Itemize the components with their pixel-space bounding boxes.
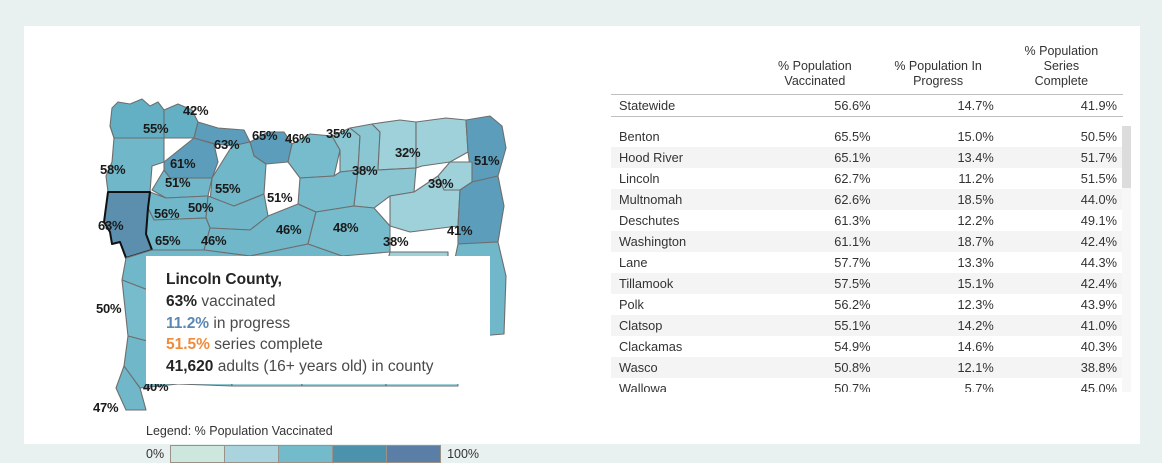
page-root: 42%55%63%65%46%35%32%51%58%61%51%55%51%3… <box>0 0 1162 459</box>
cell-vaccinated: 62.7% <box>753 168 876 189</box>
cell-vaccinated: 57.5% <box>753 273 876 294</box>
county-table-body: Benton65.5%15.0%50.5%Hood River65.1%13.4… <box>611 126 1123 392</box>
table-spacer-row <box>611 117 1123 127</box>
legend-swatch-1[interactable] <box>225 446 279 462</box>
map-label-7: 51% <box>474 153 499 168</box>
cell-county: Benton <box>611 126 753 147</box>
cell-vaccinated: 54.9% <box>753 336 876 357</box>
cell-series-complete: 43.9% <box>1000 294 1123 315</box>
table-row[interactable]: Hood River65.1%13.4%51.7% <box>611 147 1123 168</box>
header-line-2: Progress <box>883 74 994 89</box>
cell-series-complete: 44.0% <box>1000 189 1123 210</box>
cell-in-progress: 11.2% <box>877 168 1000 189</box>
tooltip-population-label: adults (16+ years old) in county <box>218 358 434 375</box>
map-label-11: 55% <box>215 181 240 196</box>
table-row-statewide[interactable]: Statewide 56.6% 14.7% 41.9% <box>611 95 1123 117</box>
county-table-header: % Population Vaccinated % Population In … <box>611 44 1123 126</box>
table-row[interactable]: Benton65.5%15.0%50.5% <box>611 126 1123 147</box>
header-line-2: Vaccinated <box>759 74 870 89</box>
cell-vaccinated: 50.7% <box>753 378 876 392</box>
cell-series-complete: 40.3% <box>1000 336 1123 357</box>
map-label-12: 51% <box>267 190 292 205</box>
map-label-1: 55% <box>143 121 168 136</box>
cell-in-progress: 5.7% <box>877 378 1000 392</box>
legend-scale-row: 0% 100% <box>146 445 479 463</box>
cell-series-complete: 49.1% <box>1000 210 1123 231</box>
cell-county: Tillamook <box>611 273 753 294</box>
header-line-1: % Population Series <box>1006 44 1117 74</box>
cell-county: Multnomah <box>611 189 753 210</box>
tooltip-vaccinated-label: vaccinated <box>201 293 275 310</box>
map-label-22: 38% <box>383 234 408 249</box>
table-row[interactable]: Clackamas54.9%14.6%40.3% <box>611 336 1123 357</box>
tooltip-vaccinated-line: 63% vaccinated <box>166 291 476 313</box>
map-label-26: 47% <box>93 400 118 415</box>
cell-in-progress: 14.2% <box>877 315 1000 336</box>
cell-series-complete: 51.7% <box>1000 147 1123 168</box>
column-header-vaccinated[interactable]: % Population Vaccinated <box>753 44 876 95</box>
cell-series-complete: 38.8% <box>1000 357 1123 378</box>
map-label-21: 48% <box>333 220 358 235</box>
table-row[interactable]: Clatsop55.1%14.2%41.0% <box>611 315 1123 336</box>
table-row[interactable]: Washington61.1%18.7%42.4% <box>611 231 1123 252</box>
cell-in-progress: 14.7% <box>877 95 1000 117</box>
cell-county: Wasco <box>611 357 753 378</box>
dashboard-card: 42%55%63%65%46%35%32%51%58%61%51%55%51%3… <box>24 26 1140 444</box>
cell-in-progress: 15.0% <box>877 126 1000 147</box>
cell-series-complete: 42.4% <box>1000 231 1123 252</box>
cell-in-progress: 13.3% <box>877 252 1000 273</box>
map-label-10: 51% <box>165 175 190 190</box>
cell-county: Statewide <box>611 95 753 117</box>
table-scrollbar-thumb[interactable] <box>1122 126 1131 188</box>
header-line-1: % Population <box>759 59 870 74</box>
cell-series-complete: 41.0% <box>1000 315 1123 336</box>
header-line-1: % Population In <box>883 59 994 74</box>
map-label-9: 61% <box>170 156 195 171</box>
map-tooltip: Lincoln County, 63% vaccinated 11.2% in … <box>146 256 490 384</box>
tooltip-series-complete-line: 51.5% series complete <box>166 334 476 356</box>
cell-vaccinated: 56.2% <box>753 294 876 315</box>
cell-vaccinated: 50.8% <box>753 357 876 378</box>
tooltip-in-progress-line: 11.2% in progress <box>166 313 476 335</box>
cell-in-progress: 18.5% <box>877 189 1000 210</box>
legend-swatch-0[interactable] <box>171 446 225 462</box>
county-table-scroll-region[interactable]: Benton65.5%15.0%50.5%Hood River65.1%13.4… <box>611 126 1131 392</box>
cell-county: Lincoln <box>611 168 753 189</box>
map-label-4: 46% <box>285 131 310 146</box>
legend-swatch-4[interactable] <box>387 446 440 462</box>
table-row[interactable]: Multnomah62.6%18.5%44.0% <box>611 189 1123 210</box>
cell-series-complete: 44.3% <box>1000 252 1123 273</box>
tooltip-population-value: 41,620 <box>166 358 213 375</box>
cell-series-complete: 50.5% <box>1000 126 1123 147</box>
county-table-panel: % Population Vaccinated % Population In … <box>586 26 1140 444</box>
map-label-13: 38% <box>352 163 377 178</box>
cell-vaccinated: 55.1% <box>753 315 876 336</box>
map-label-23: 41% <box>447 223 472 238</box>
cell-vaccinated: 62.6% <box>753 189 876 210</box>
cell-in-progress: 12.1% <box>877 357 1000 378</box>
tooltip-series-complete-label: series complete <box>214 336 323 353</box>
table-row[interactable]: Tillamook57.5%15.1%42.4% <box>611 273 1123 294</box>
legend-swatch-2[interactable] <box>279 446 333 462</box>
table-row[interactable]: Polk56.2%12.3%43.9% <box>611 294 1123 315</box>
map-label-24: 50% <box>96 301 121 316</box>
table-row[interactable]: Wallowa50.7%5.7%45.0% <box>611 378 1123 392</box>
cell-county: Deschutes <box>611 210 753 231</box>
map-label-16: 56% <box>154 206 179 221</box>
map-label-0: 42% <box>183 103 208 118</box>
cell-county: Clackamas <box>611 336 753 357</box>
cell-vaccinated: 65.5% <box>753 126 876 147</box>
table-row[interactable]: Wasco50.8%12.1%38.8% <box>611 357 1123 378</box>
legend-swatch-3[interactable] <box>333 446 387 462</box>
cell-in-progress: 18.7% <box>877 231 1000 252</box>
table-scrollbar-track[interactable] <box>1122 126 1131 392</box>
cell-series-complete: 45.0% <box>1000 378 1123 392</box>
table-row[interactable]: Lincoln62.7%11.2%51.5% <box>611 168 1123 189</box>
map-label-3: 65% <box>252 128 277 143</box>
cell-in-progress: 15.1% <box>877 273 1000 294</box>
map-label-5: 35% <box>326 126 351 141</box>
map-label-2: 63% <box>214 137 239 152</box>
tooltip-in-progress-label: in progress <box>213 315 290 332</box>
map-label-20: 46% <box>276 222 301 237</box>
map-label-19: 46% <box>201 233 226 248</box>
map-legend: Legend: % Population Vaccinated 0% 100% <box>146 424 479 463</box>
cell-in-progress: 12.2% <box>877 210 1000 231</box>
tooltip-population-line: 41,620 adults (16+ years old) in county <box>166 356 476 378</box>
cell-in-progress: 14.6% <box>877 336 1000 357</box>
cell-vaccinated: 57.7% <box>753 252 876 273</box>
map-label-14: 39% <box>428 176 453 191</box>
cell-vaccinated: 61.1% <box>753 231 876 252</box>
cell-series-complete: 42.4% <box>1000 273 1123 294</box>
cell-county: Polk <box>611 294 753 315</box>
column-header-in-progress[interactable]: % Population In Progress <box>877 44 1000 95</box>
cell-county: Wallowa <box>611 378 753 392</box>
cell-series-complete: 51.5% <box>1000 168 1123 189</box>
map-label-15: 63% <box>98 218 123 233</box>
county-table-wrap: % Population Vaccinated % Population In … <box>611 44 1131 392</box>
column-header-series-complete[interactable]: % Population Series Complete <box>1000 44 1123 95</box>
cell-county: Lane <box>611 252 753 273</box>
cell-vaccinated: 61.3% <box>753 210 876 231</box>
column-header-county[interactable] <box>611 44 753 95</box>
legend-color-ramp[interactable] <box>170 445 441 463</box>
map-label-8: 58% <box>100 162 125 177</box>
map-panel[interactable]: 42%55%63%65%46%35%32%51%58%61%51%55%51%3… <box>24 26 584 444</box>
tooltip-vaccinated-value: 63% <box>166 293 197 310</box>
legend-title: Legend: % Population Vaccinated <box>146 424 479 438</box>
county-umatilla[interactable] <box>416 118 468 168</box>
header-line-2: Complete <box>1006 74 1117 89</box>
cell-in-progress: 13.4% <box>877 147 1000 168</box>
map-label-18: 65% <box>155 233 180 248</box>
table-row[interactable]: Lane57.7%13.3%44.3% <box>611 252 1123 273</box>
cell-series-complete: 41.9% <box>1000 95 1123 117</box>
cell-county: Clatsop <box>611 315 753 336</box>
tooltip-series-complete-value: 51.5% <box>166 336 210 353</box>
tooltip-in-progress-value: 11.2% <box>166 315 209 332</box>
table-header-row: % Population Vaccinated % Population In … <box>611 44 1123 95</box>
table-row[interactable]: Deschutes61.3%12.2%49.1% <box>611 210 1123 231</box>
cell-county: Hood River <box>611 147 753 168</box>
cell-in-progress: 12.3% <box>877 294 1000 315</box>
map-label-6: 32% <box>395 145 420 160</box>
cell-vaccinated: 56.6% <box>753 95 876 117</box>
map-label-17: 50% <box>188 200 213 215</box>
cell-vaccinated: 65.1% <box>753 147 876 168</box>
tooltip-title: Lincoln County, <box>166 268 476 291</box>
cell-county: Washington <box>611 231 753 252</box>
